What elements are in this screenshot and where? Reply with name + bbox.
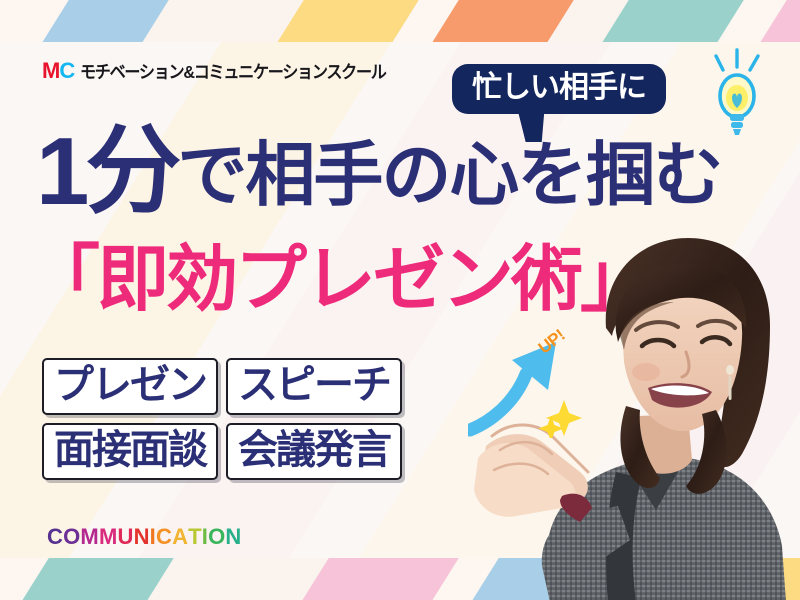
top-stripe-band xyxy=(0,0,800,42)
wordmark-letter: A xyxy=(172,524,188,550)
tag-label: プレゼン xyxy=(54,364,206,407)
tag-label: 面接面談 xyxy=(54,429,206,472)
subheadline: 「即効プレゼン術」 xyxy=(28,243,649,319)
tag-item[interactable]: スピーチ xyxy=(226,358,402,415)
footer-wordmark: COMMUNICATION xyxy=(47,524,242,550)
wordmark-letter: O xyxy=(63,524,80,550)
tag-item[interactable]: 面接面談 xyxy=(42,423,218,480)
tag-label: スピーチ xyxy=(238,364,390,407)
wordmark-letter: O xyxy=(208,524,225,550)
tag-item[interactable]: プレゼン xyxy=(42,358,218,415)
wordmark-letter: M xyxy=(80,524,99,550)
wordmark-letter: U xyxy=(117,524,133,550)
logo-mark-m: M xyxy=(42,58,59,83)
headline: 1分 で相手の心を掴む xyxy=(36,128,796,216)
logo-school-name: モチベーション&コミュニケーションスクール xyxy=(80,59,386,84)
brand-logo: MC モチベーション&コミュニケーションスクール xyxy=(42,58,412,84)
wordmark-letter: M xyxy=(99,524,118,550)
wordmark-letter: T xyxy=(188,524,202,550)
speech-bubble-text: 忙しい相手に xyxy=(472,72,646,104)
headline-emphasis: 1分 xyxy=(36,128,177,216)
up-arrow-icon xyxy=(468,318,598,438)
wordmark-letter: C xyxy=(47,524,63,550)
tag-label: 会議発言 xyxy=(238,429,390,472)
wordmark-letter: N xyxy=(225,524,241,550)
logo-mark-c: C xyxy=(59,58,74,83)
lightbulb-icon xyxy=(706,48,768,140)
headline-rest: で相手の心を掴む xyxy=(177,139,721,217)
tag-item[interactable]: 会議発言 xyxy=(226,423,402,480)
wordmark-letter: C xyxy=(156,524,172,550)
wordmark-letter: N xyxy=(134,524,150,550)
speech-bubble: 忙しい相手に xyxy=(452,64,666,114)
poster-root: MC モチベーション&コミュニケーションスクール 忙しい相手に 1分 で相手の心… xyxy=(0,0,800,600)
tag-list: プレゼン スピーチ 面接面談 会議発言 xyxy=(42,358,402,480)
